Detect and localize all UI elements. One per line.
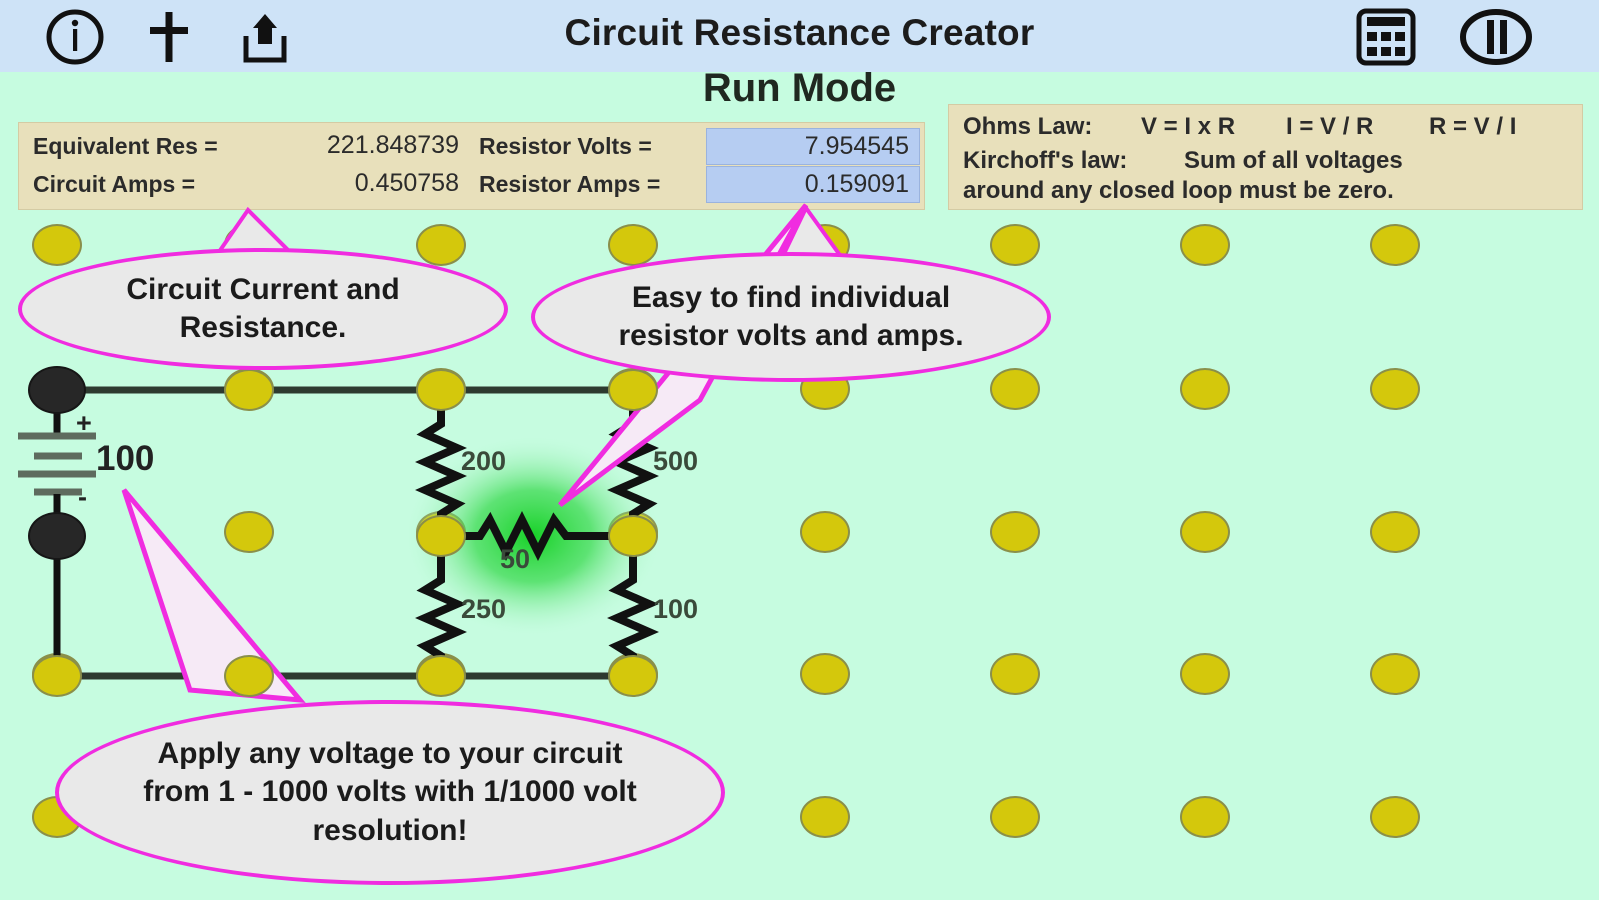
callout-pointer-3 <box>124 490 300 700</box>
circuit-node[interactable] <box>32 655 82 697</box>
resistor-bottom-left-label: 250 <box>461 594 506 624</box>
battery-minus-sign: - <box>78 482 87 512</box>
callout-1-line-2: Resistance. <box>92 309 433 347</box>
battery-plus-sign: + <box>76 408 92 438</box>
app-window: Circuit Resistance Creator Run Mode <box>0 0 1599 900</box>
callout-3-line-3: resolution! <box>109 812 671 850</box>
resistor-middle-label: 50 <box>500 544 530 574</box>
battery-voltage-label: 100 <box>96 439 154 478</box>
circuit-node[interactable] <box>224 655 274 697</box>
resistor-top-left-label: 200 <box>461 446 506 476</box>
battery-terminal-negative[interactable] <box>28 512 86 560</box>
callout-circuit-current: Circuit Current and Resistance. <box>18 248 508 370</box>
circuit-node[interactable] <box>608 515 658 557</box>
callout-3-line-1: Apply any voltage to your circuit <box>109 735 671 773</box>
circuit-node[interactable] <box>608 369 658 411</box>
callout-2-line-2: resistor volts and amps. <box>584 317 997 355</box>
circuit-node[interactable] <box>416 655 466 697</box>
callout-3-line-2: from 1 - 1000 volts with 1/1000 volt <box>109 773 671 811</box>
callout-1-line-1: Circuit Current and <box>92 271 433 309</box>
battery-terminal-positive[interactable] <box>28 366 86 414</box>
circuit-node[interactable] <box>224 369 274 411</box>
circuit-node[interactable] <box>608 655 658 697</box>
resistor-top-right-label: 500 <box>653 446 698 476</box>
callout-apply-voltage: Apply any voltage to your circuit from 1… <box>55 700 725 885</box>
callout-resistor-values: Easy to find individual resistor volts a… <box>531 252 1051 382</box>
circuit-node[interactable] <box>416 515 466 557</box>
callout-2-line-1: Easy to find individual <box>584 279 997 317</box>
circuit-node[interactable] <box>416 369 466 411</box>
resistor-bottom-right-label: 100 <box>653 594 698 624</box>
